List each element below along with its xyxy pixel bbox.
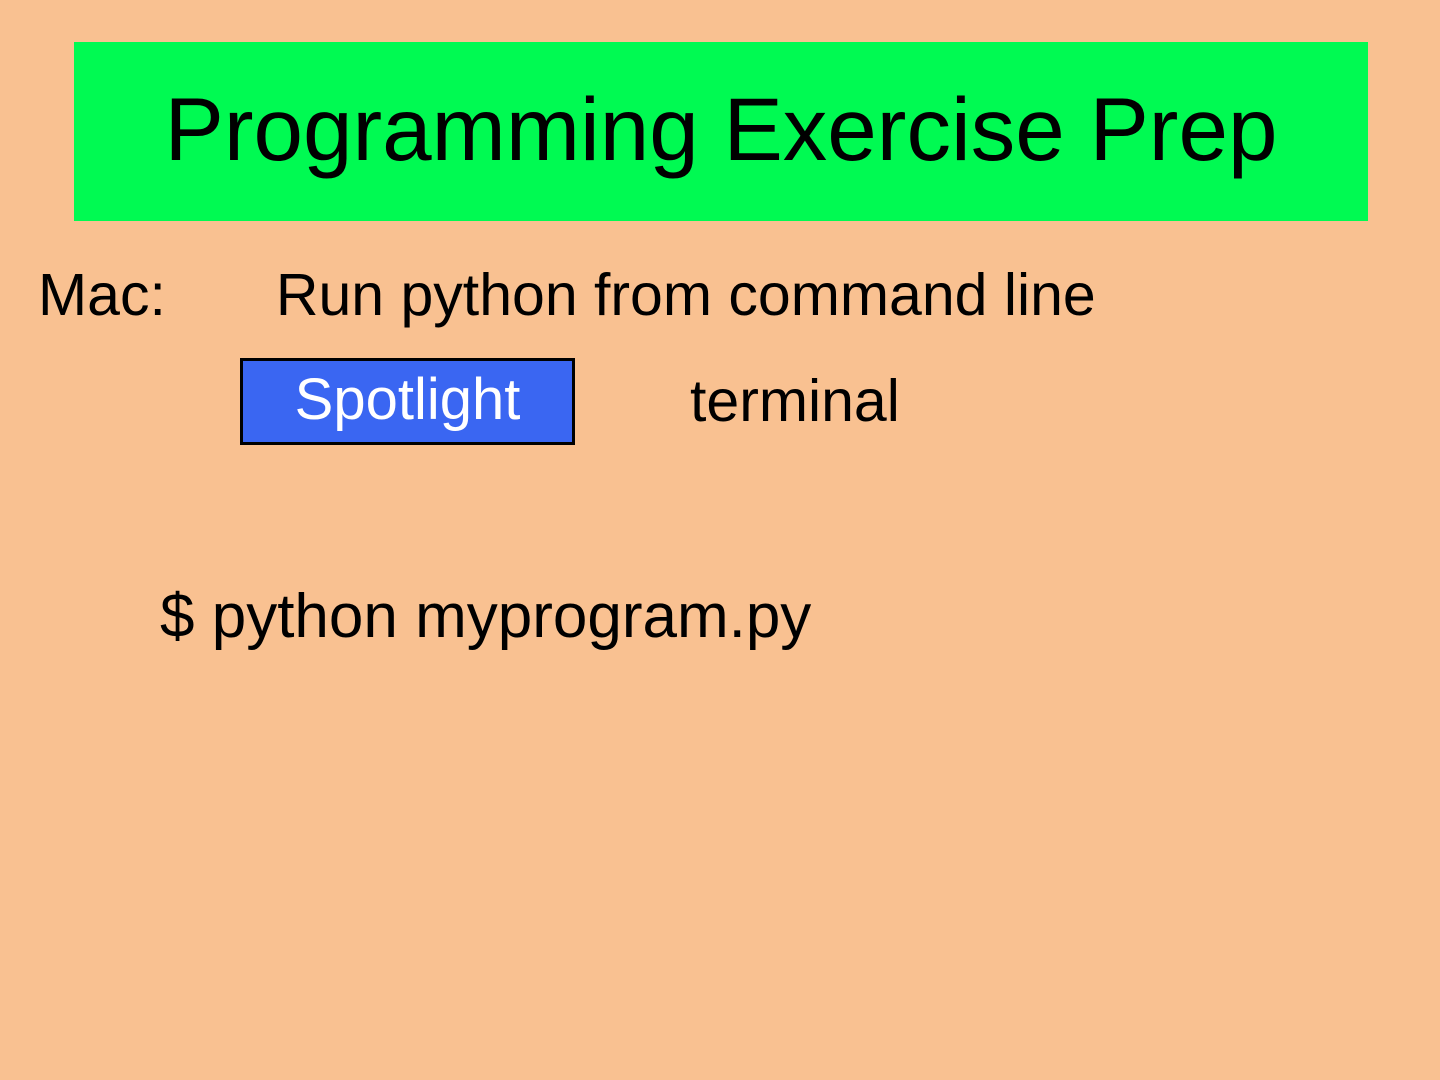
presentation-slide: Programming Exercise Prep Mac:Run python… [0,0,1440,1080]
spotlight-button-label: Spotlight [295,371,521,429]
platform-instruction-text: Run python from command line [276,266,1096,325]
page-title: Programming Exercise Prep [165,85,1278,174]
command-line-text: $ python myprogram.py [160,586,811,648]
platform-instruction-line: Mac:Run python from command line [38,266,1096,325]
spotlight-row: Spotlight terminal [240,358,900,445]
spotlight-button[interactable]: Spotlight [240,358,575,445]
terminal-label: terminal [690,372,900,431]
platform-label: Mac: [38,266,166,325]
title-banner: Programming Exercise Prep [74,42,1368,221]
